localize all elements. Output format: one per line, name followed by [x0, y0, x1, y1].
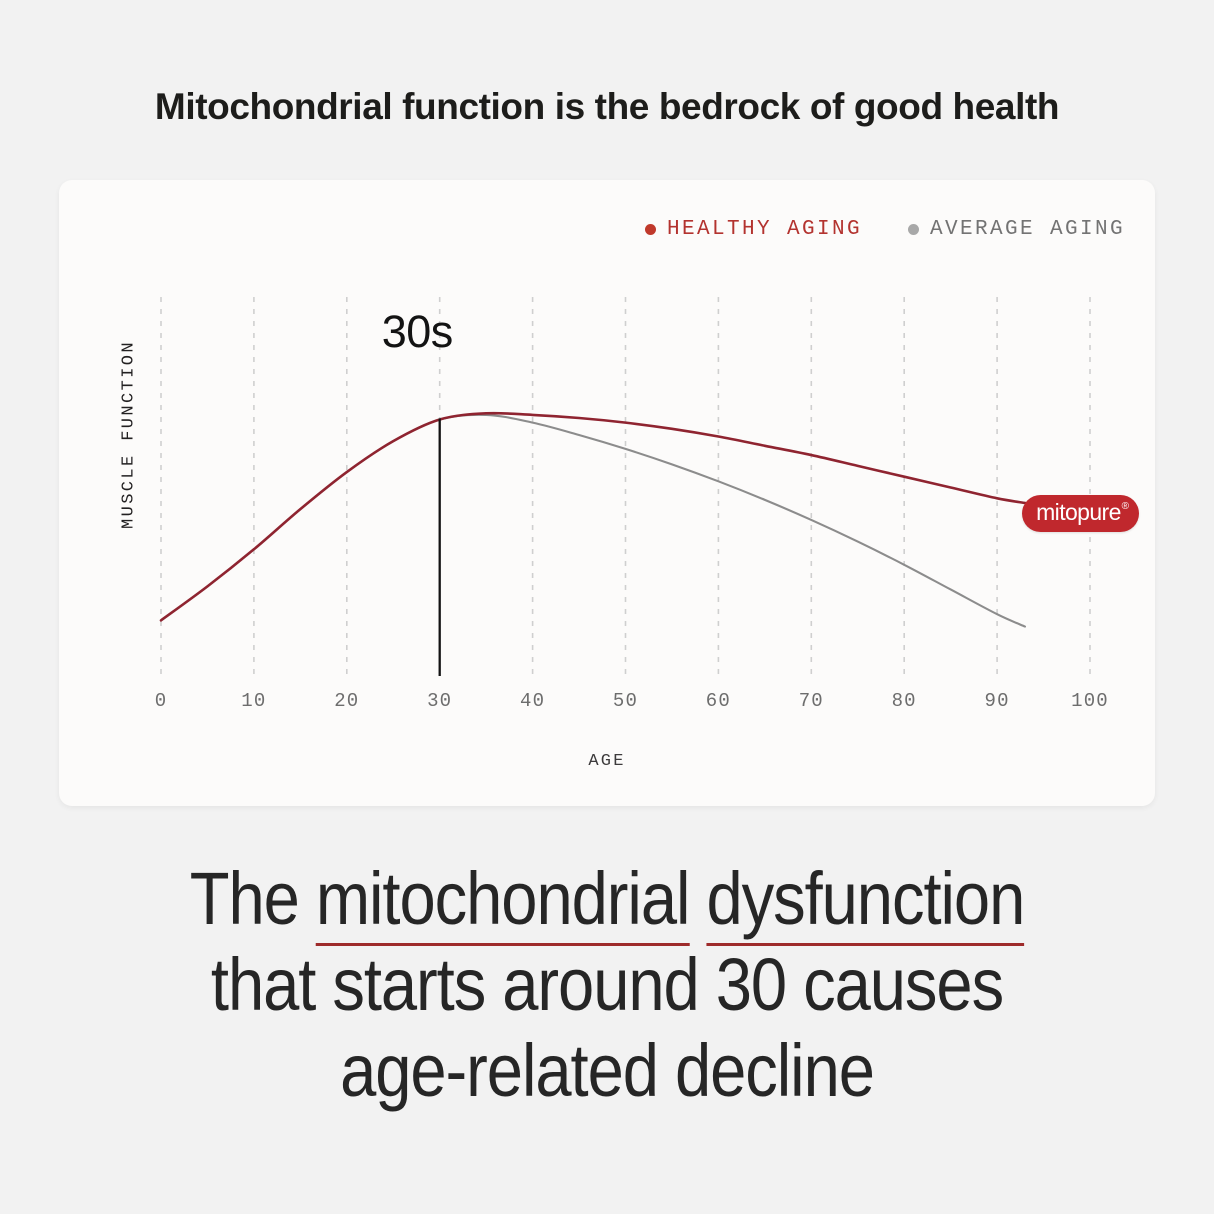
chart-canvas: [59, 180, 1155, 806]
plot-area: 30s mitopure ® MUSCLE FUNCTION 010203040…: [59, 180, 1155, 806]
x-tick-label: 10: [241, 690, 266, 712]
x-tick-label: 70: [799, 690, 824, 712]
mitopure-badge[interactable]: mitopure ®: [1022, 495, 1139, 532]
caption-line-2: that starts around 30 causes: [73, 942, 1141, 1028]
caption-text-the: The: [190, 857, 316, 940]
caption-line-3: age-related decline: [73, 1028, 1141, 1114]
series-line-average-aging: [161, 415, 1025, 627]
caption-underlined-mitochondrial: mitochondrial: [316, 857, 690, 946]
caption-underlined-dysfunction: dysfunction: [706, 857, 1024, 946]
x-tick-label: 40: [520, 690, 545, 712]
caption-space: [689, 857, 706, 940]
x-tick-label: 20: [334, 690, 359, 712]
y-axis-label: MUSCLE FUNCTION: [120, 320, 139, 550]
x-tick-label: 80: [892, 690, 917, 712]
series-line-healthy-aging: [161, 413, 1025, 620]
x-tick-label: 100: [1071, 690, 1109, 712]
annotation-label-30s: 30s: [382, 306, 453, 358]
x-tick-label: 60: [706, 690, 731, 712]
mitopure-wordmark: mitopure: [1036, 501, 1121, 524]
x-tick-label: 30: [427, 690, 452, 712]
x-axis-label: AGE: [59, 752, 1155, 771]
caption-block: The mitochondrial dysfunction that start…: [73, 856, 1141, 1114]
chart-card: HEALTHY AGING AVERAGE AGING 30s mitopure…: [59, 180, 1155, 806]
x-tick-label: 90: [984, 690, 1009, 712]
registered-trademark-icon: ®: [1122, 502, 1129, 512]
page-title: Mitochondrial function is the bedrock of…: [0, 86, 1214, 128]
x-tick-label: 0: [155, 690, 168, 712]
x-tick-label: 50: [613, 690, 638, 712]
caption-line-1: The mitochondrial dysfunction: [73, 856, 1141, 942]
